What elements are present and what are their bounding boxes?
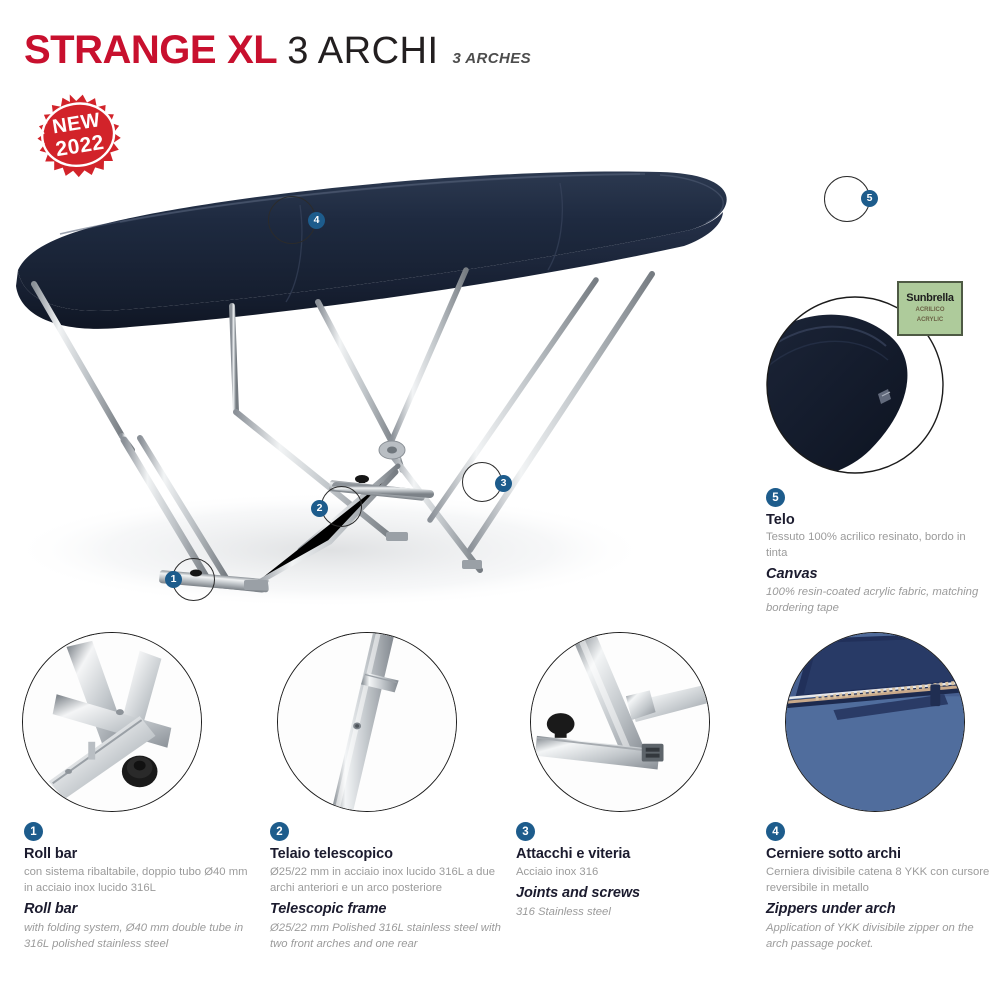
caption-3: 3 Attacchi e viteria Acciaio inox 316 Jo… [516, 822, 748, 920]
caption-4: 4 Cerniere sotto archi Cerniera divisibi… [766, 822, 998, 952]
caption-2-number: 2 [270, 822, 289, 841]
caption-4-text-en: Application of YKK divisibile zipper on … [766, 920, 998, 952]
title-arches-it: 3 ARCHI [287, 30, 438, 73]
caption-canvas-text-en: 100% resin-coated acrylic fabric, matchi… [766, 584, 981, 616]
callout-4: 4 [268, 196, 328, 248]
caption-1-title-en: Roll bar [24, 901, 256, 918]
fabric-type-it: ACRILICO [916, 307, 945, 315]
caption-3-text-en: 316 Stainless steel [516, 904, 748, 920]
caption-canvas-text-it: Tessuto 100% acrilico resinato, bordo in… [766, 529, 981, 561]
callout-2-number: 2 [311, 500, 328, 517]
caption-2-title-it: Telaio telescopico [270, 846, 502, 863]
caption-2-text-en: Ø25/22 mm Polished 316L stainless steel … [270, 920, 502, 952]
caption-4-number: 4 [766, 822, 785, 841]
product-hero-image [0, 150, 760, 620]
page-title: STRANGE XL 3 ARCHI 3 ARCHES [24, 28, 531, 73]
caption-2-text-it: Ø25/22 mm in acciaio inox lucido 316L a … [270, 864, 502, 896]
sunbrella-fabric-badge: Sunbrella ACRILICO ACRYLIC [897, 281, 963, 336]
callout-4-number: 4 [308, 212, 325, 229]
knob-icon [122, 756, 158, 788]
callout-5-number: 5 [861, 190, 878, 207]
caption-canvas-title-en: Canvas [766, 566, 981, 583]
caption-1-title-it: Roll bar [24, 846, 256, 863]
detail-photo-3 [530, 632, 710, 812]
fabric-type-en: ACRYLIC [917, 317, 943, 325]
caption-2-title-en: Telescopic frame [270, 901, 502, 918]
title-model: STRANGE [24, 28, 216, 73]
caption-3-number: 3 [516, 822, 535, 841]
sunbrella-logo: Sunbrella [906, 293, 953, 304]
caption-3-title-it: Attacchi e viteria [516, 846, 748, 863]
knob-icon [355, 475, 369, 483]
bimini-canvas [16, 172, 727, 329]
caption-1: 1 Roll bar con sistema ribaltabile, dopp… [24, 822, 256, 952]
caption-4-title-en: Zippers under arch [766, 901, 998, 918]
caption-3-text-it: Acciaio inox 316 [516, 864, 748, 880]
callout-1: 1 [165, 558, 223, 610]
caption-4-text-it: Cerniera divisibile catena 8 YKK con cur… [766, 864, 998, 896]
caption-2: 2 Telaio telescopico Ø25/22 mm in acciai… [270, 822, 502, 952]
caption-1-number: 1 [24, 822, 43, 841]
caption-1-text-it: con sistema ribaltabile, doppio tubo Ø40… [24, 864, 256, 896]
callout-2: 2 [310, 486, 368, 538]
callout-1-number: 1 [165, 571, 182, 588]
caption-canvas: 5 Telo Tessuto 100% acrilico resinato, b… [766, 488, 981, 621]
detail-photo-1 [22, 632, 202, 812]
zipper-under-arch-photo [786, 633, 964, 811]
title-variant: XL [227, 28, 277, 73]
title-arches-en: 3 ARCHES [453, 50, 532, 67]
caption-3-title-en: Joints and screws [516, 885, 748, 902]
caption-1-text-en: with folding system, Ø40 mm double tube … [24, 920, 256, 952]
pivot-hub [379, 441, 405, 459]
caption-4-title-it: Cerniere sotto archi [766, 846, 998, 863]
product-catalog-page: STRANGE XL 3 ARCHI 3 ARCHES NEW 2022 // … [0, 0, 1000, 1000]
callout-3: 3 [462, 462, 520, 514]
callout-3-number: 3 [495, 475, 512, 492]
detail-photo-2 [277, 632, 457, 812]
caption-canvas-number: 5 [766, 488, 785, 507]
callout-5: 5 [824, 176, 886, 228]
detail-photo-4 [785, 632, 965, 812]
caption-canvas-title-it: Telo [766, 512, 981, 529]
